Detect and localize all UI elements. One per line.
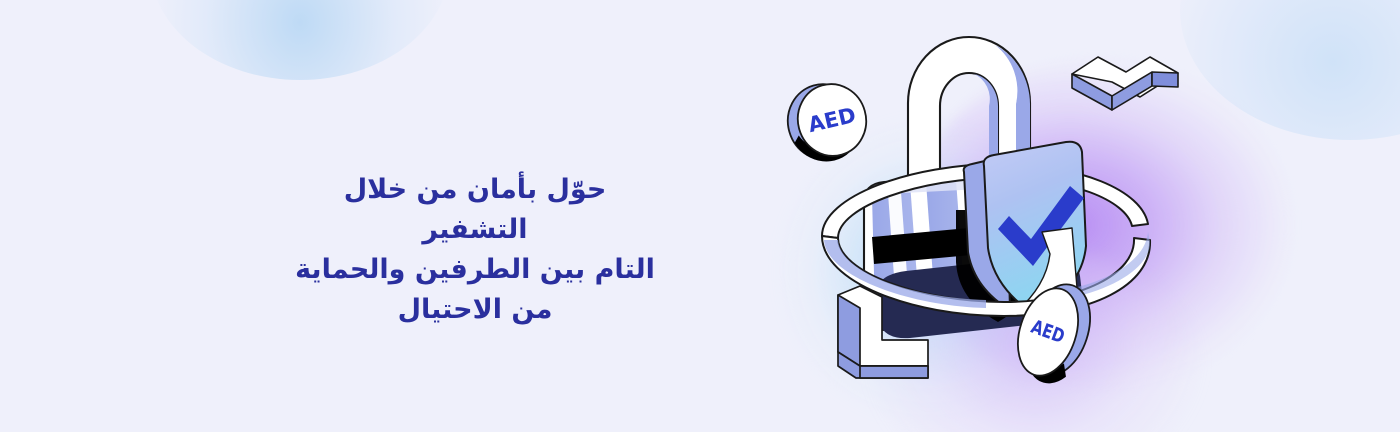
promo-banner: حوّل بأمان من خلال التشفير التام بين الط… [0,0,1400,432]
l-block-top-right-icon [1072,57,1178,110]
page-title: حوّل بأمان من خلال التشفير التام بين الط… [295,170,655,330]
aed-coin-top-left: AED [779,76,875,170]
headline-block: حوّل بأمان من خلال التشفير التام بين الط… [295,170,655,330]
security-lock-illustration: AED AED [760,0,1220,432]
background-glow-top-left [150,0,450,80]
illustration-artwork: AED AED [760,0,1220,432]
